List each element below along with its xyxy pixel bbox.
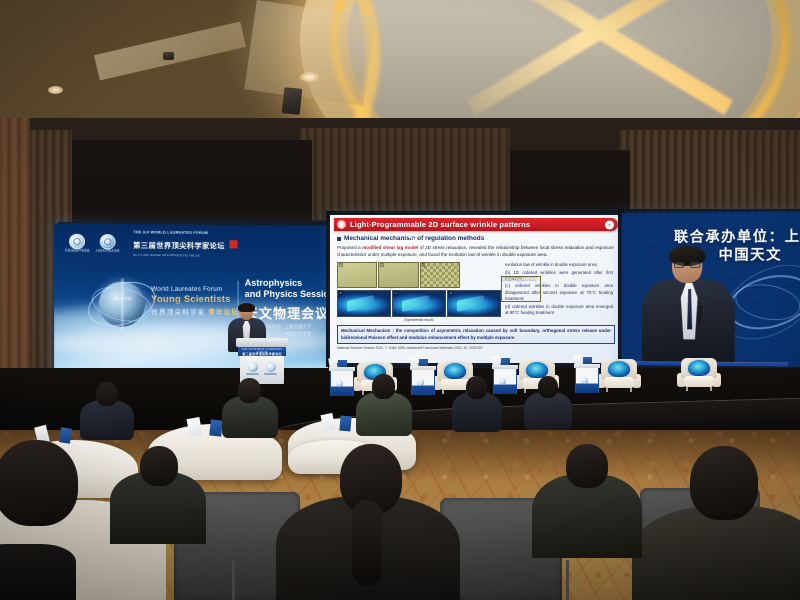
ceiling-speaker-icon [282, 87, 303, 115]
right-led-screen: 联合承办单位：上海交通 中国天文 THE 3rd WORLD LAUREATES… [622, 211, 800, 366]
slide-intro-paragraph: Proposed a modified shear lag model of 2… [334, 245, 618, 259]
stage-side-table [410, 366, 436, 396]
organizer-seal-1-icon: 世界顶尖科学家协会 [65, 233, 90, 253]
stage-podium: THE 3rd WORLD LAUREATES FORUM 第三届世界顶尖科学家… [236, 338, 288, 384]
audience-chair-leg [232, 560, 235, 600]
slide-page-number: 6 [605, 220, 614, 229]
downlight-icon [300, 72, 319, 82]
wlfys-emblem-text: WLFYS [113, 296, 131, 301]
left-screen-logo-row: 世界顶尖科学家协会 上海市科学技术协会 THE 3rd WORLD LAUREA… [65, 230, 237, 258]
wall-wood-slats-right [620, 130, 800, 216]
double-exposure-annotation: double exposure area [501, 276, 541, 302]
presentation-slide: Light-Programmable 2D surface wrinkle pa… [330, 215, 622, 363]
table-folder [59, 427, 72, 443]
podium-logo-row [246, 362, 277, 375]
conference-hall-photo: 世界顶尖科学家协会 上海市科学技术协会 THE 3rd WORLD LAUREA… [0, 0, 800, 600]
afm-image-d: d [447, 290, 501, 317]
podium-branding-band: THE 3rd WORLD LAUREATES FORUM 第三届世界顶尖科学家… [238, 347, 286, 356]
microscopy-image-b: b [378, 262, 418, 288]
stage-chair [596, 359, 642, 391]
figure-bottom-row: b c d [337, 290, 501, 317]
stage-side-table [492, 365, 518, 395]
slide-section-heading: Mechanical mechanism of regulation metho… [334, 235, 618, 242]
table-folder [339, 416, 351, 432]
slide-content-row: a b c double exposure area b c d [334, 262, 618, 323]
center-led-screen: Light-Programmable 2D surface wrinkle pa… [330, 215, 622, 363]
figure-caption: Experimental results [337, 318, 501, 322]
stage-side-table [329, 367, 355, 397]
podium-text-cn: 第三届世界顶尖科学家论坛 [238, 352, 286, 356]
table-logo-icon [581, 377, 588, 384]
slide-title-banner: Light-Programmable 2D surface wrinkle pa… [334, 218, 618, 231]
bullet-square-icon [337, 237, 341, 241]
slide-reference-line: National Science Review 2020, 7, 1048-10… [337, 346, 615, 350]
microscopy-image-c: c [420, 262, 460, 288]
audience-chair-leg [566, 560, 569, 600]
mechanism-summary-box: Mechanical Mechanism : the competition o… [337, 325, 615, 344]
forum-banner-mark: THE 3rd WORLD LAUREATES FORUM 第三届世界顶尖科学家… [133, 230, 237, 257]
slide-seal-icon [337, 220, 346, 229]
podium-logo-icon [264, 362, 277, 375]
podium-logo-icon [246, 362, 259, 375]
podium-top-surface [236, 338, 288, 347]
session-title-block: Astrophysics and Physics Session I 天文物理会… [245, 278, 328, 322]
ceiling-speaker-icon [163, 52, 174, 60]
wall-wood-slats-center [300, 128, 510, 220]
bullet-item: evolution law of wrinkle in double expos… [505, 262, 613, 268]
eyeglasses-icon [674, 262, 700, 268]
downlight-icon [48, 86, 63, 94]
right-overlay-line-2: 中国天文 [719, 244, 783, 265]
slide-figure-column: a b c double exposure area b c d [337, 262, 501, 323]
table-logo-icon [336, 380, 343, 387]
table-folder [209, 419, 223, 436]
bullet-item: (d) ordered wrinkles in double exposure … [505, 304, 613, 316]
red-accent-block [229, 240, 237, 248]
table-logo-icon [417, 379, 424, 386]
microscopy-image-a: a [337, 262, 377, 288]
table-logo-icon [499, 378, 506, 385]
annotation-arrow-icon [404, 233, 420, 242]
ceiling-panel-center [244, 0, 375, 106]
forum-brand-block: World Laureates Forum Young Scientists 世… [151, 286, 239, 317]
afm-image-c: c [392, 290, 446, 317]
stage-speaker-hair [238, 303, 255, 312]
figure-top-row: a b c double exposure area [337, 262, 501, 288]
organizer-seal-2-icon: 上海市科学技术协会 [95, 234, 120, 254]
stage-chair [676, 358, 722, 390]
afm-image-b: b [337, 290, 391, 317]
slide-title-text: Light-Programmable 2D surface wrinkle pa… [350, 220, 530, 229]
stage-side-table [574, 364, 600, 394]
